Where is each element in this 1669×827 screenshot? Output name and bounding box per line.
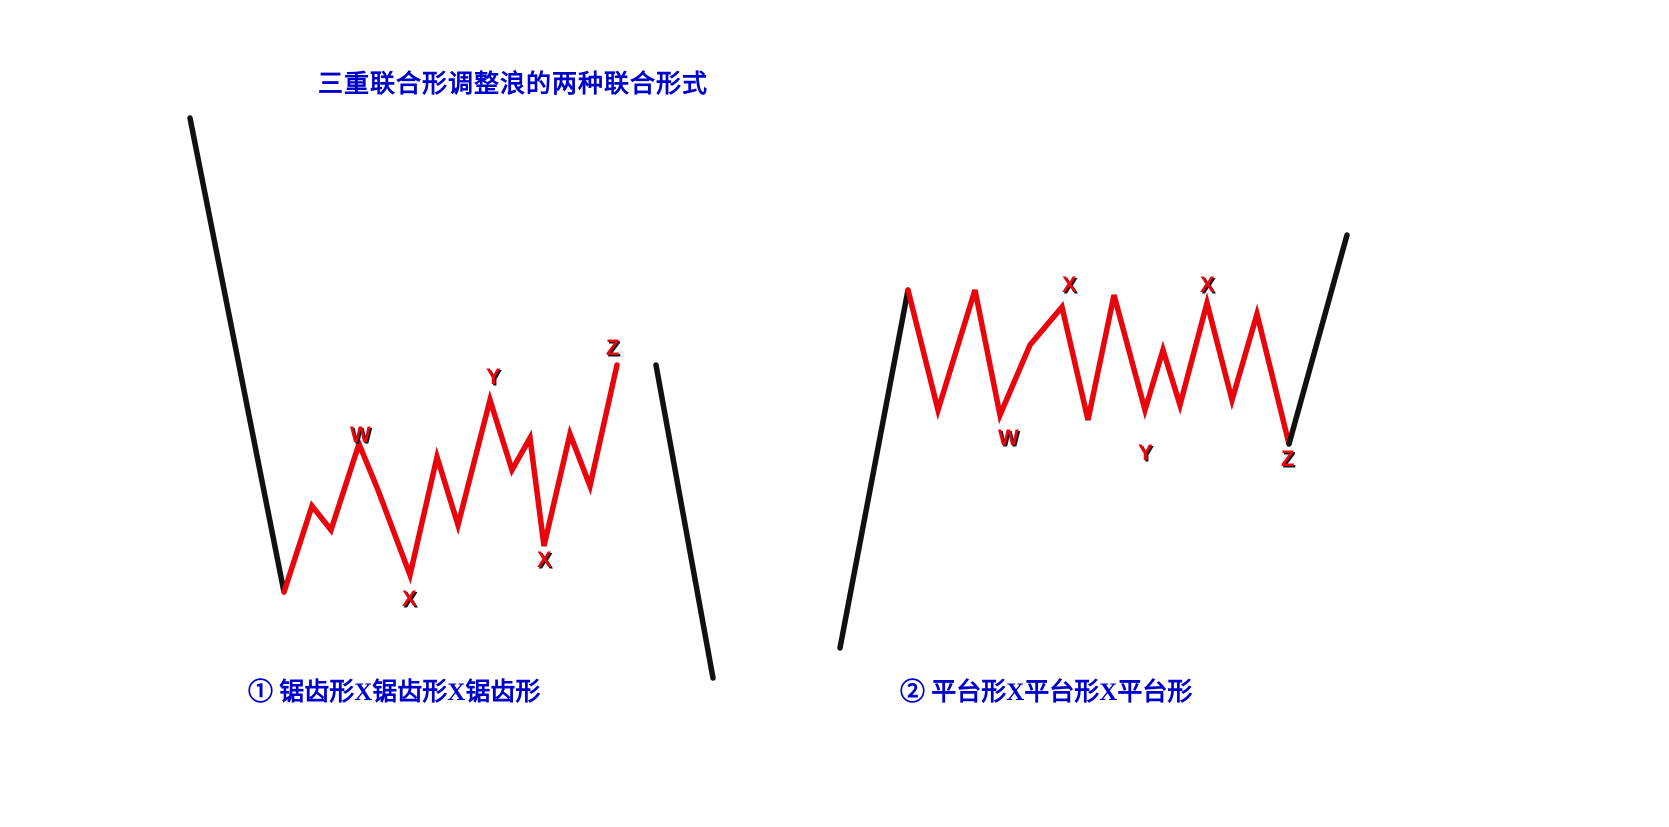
caption-left-zigzag: ① 锯齿形X锯齿形X锯齿形	[248, 672, 540, 708]
wave-label-x2: X	[537, 549, 552, 571]
page-title: 三重联合形调整浪的两种联合形式	[318, 64, 708, 100]
figure-canvas: 三重联合形调整浪的两种联合形式 WXYXZ WXYXZ ① 锯齿形X锯齿形X锯齿…	[0, 0, 1669, 827]
wave-label-z: Z	[606, 337, 619, 359]
wave-label-x2: X	[1200, 274, 1215, 296]
impulse-lead-line	[190, 118, 284, 592]
wave-label-w: W	[998, 427, 1019, 449]
wave-label-z: Z	[1281, 448, 1294, 470]
wave-label-w: W	[350, 424, 371, 446]
right-diagram-group	[840, 235, 1347, 648]
wave-label-y: Y	[1138, 442, 1153, 464]
caption-right-flat: ② 平台形X平台形X平台形	[900, 672, 1192, 708]
correction-wave-path	[284, 365, 617, 592]
correction-wave-path	[908, 290, 1289, 444]
wave-label-x1: X	[402, 588, 417, 610]
left-diagram-group	[190, 118, 713, 678]
wave-label-y: Y	[486, 366, 501, 388]
impulse-tail-line	[1289, 235, 1347, 444]
impulse-lead-line	[840, 290, 908, 648]
impulse-tail-line	[656, 365, 713, 678]
wave-label-x1: X	[1062, 274, 1077, 296]
